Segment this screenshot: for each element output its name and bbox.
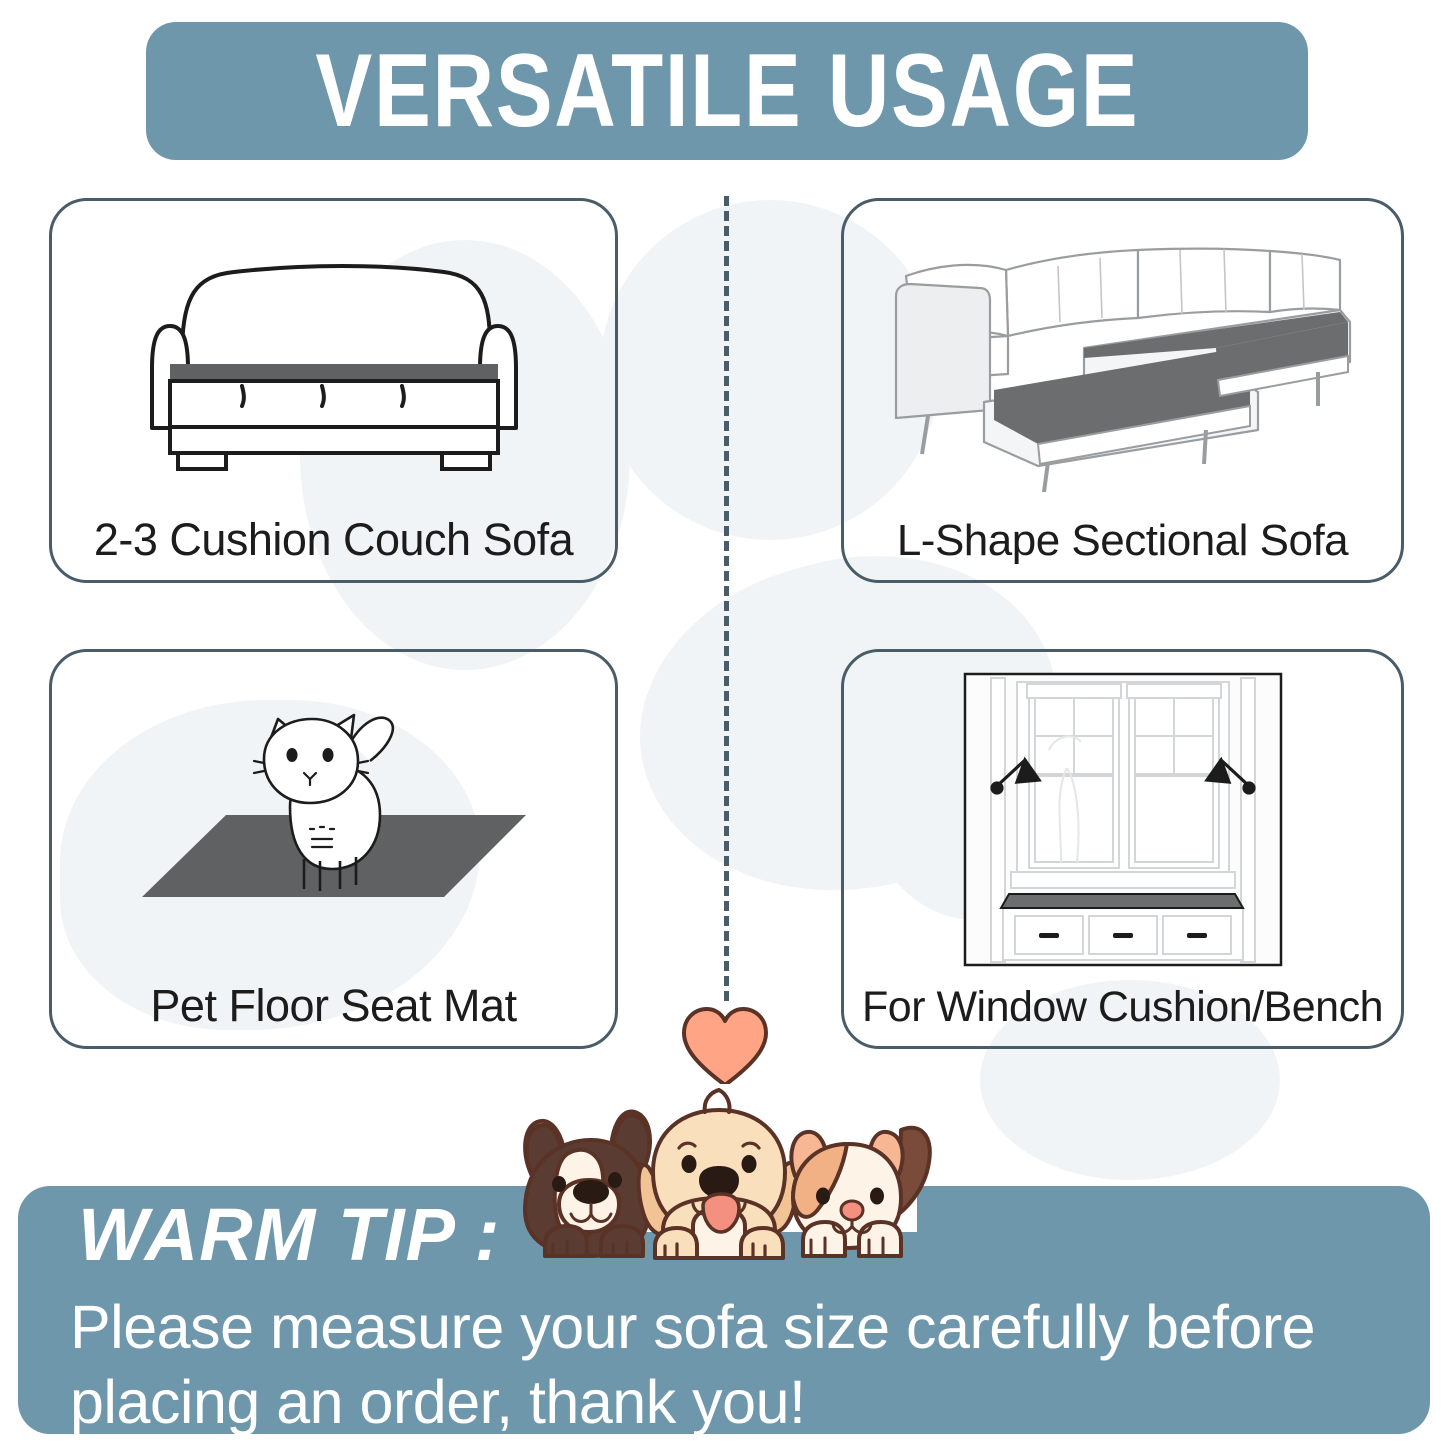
heart-icon xyxy=(680,1005,770,1089)
header-banner: VERSATILE USAGE xyxy=(146,22,1308,160)
usage-card-label: 2-3 Cushion Couch Sofa xyxy=(52,514,615,566)
three-pets-illustration xyxy=(497,1080,957,1295)
usage-card-sectional-sofa[interactable]: L-Shape Sectional Sofa xyxy=(841,198,1404,583)
warm-tip-line-2: placing an order, thank you! xyxy=(70,1365,1400,1440)
warm-tip-body: Please measure your sofa size carefully … xyxy=(70,1290,1400,1440)
usage-card-label: For Window Cushion/Bench xyxy=(844,983,1401,1032)
warm-tip-heading: WARM TIP : xyxy=(78,1198,500,1272)
usage-card-label: Pet Floor Seat Mat xyxy=(52,980,615,1032)
window-bench-illustration xyxy=(844,666,1401,972)
usage-card-pet-mat[interactable]: Pet Floor Seat Mat xyxy=(49,649,618,1049)
usage-card-couch-sofa[interactable]: 2-3 Cushion Couch Sofa xyxy=(49,198,618,583)
couch-sofa-illustration xyxy=(52,215,615,506)
vertical-dashed-divider xyxy=(724,196,729,1001)
warm-tip-line-1: Please measure your sofa size carefully … xyxy=(70,1290,1400,1365)
sectional-sofa-illustration xyxy=(844,215,1401,506)
cat-on-mat-illustration xyxy=(52,666,615,972)
page-title: VERSATILE USAGE xyxy=(315,39,1139,143)
usage-card-window-bench[interactable]: For Window Cushion/Bench xyxy=(841,649,1404,1049)
usage-card-label: L-Shape Sectional Sofa xyxy=(844,516,1401,566)
